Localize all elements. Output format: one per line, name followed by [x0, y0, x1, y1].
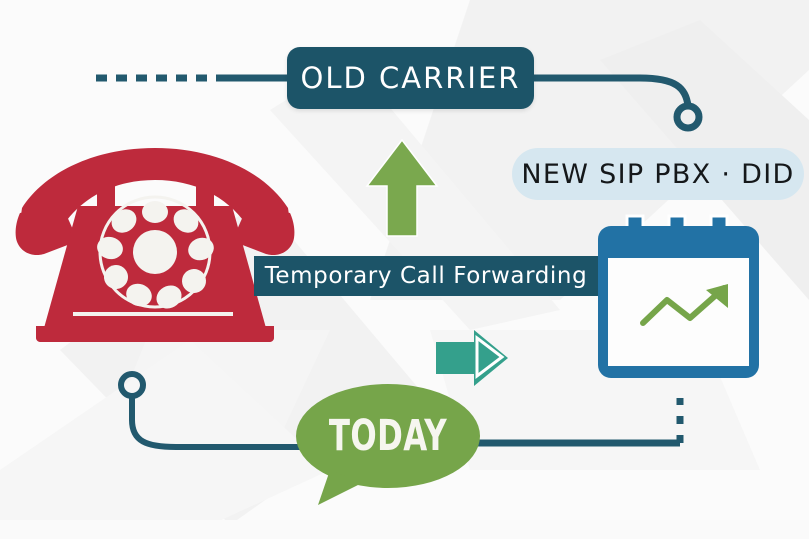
old-carrier-label: OLD CARRIER — [301, 61, 521, 95]
temporary-call-forwarding-bar[interactable]: Temporary Call Forwarding — [254, 256, 598, 296]
new-sip-pbx-badge[interactable]: NEW SIP PBX · DID — [512, 148, 804, 200]
today-label: TODAY — [314, 386, 461, 486]
old-carrier-badge[interactable]: OLD CARRIER — [287, 47, 534, 109]
today-bubble[interactable]: TODAY — [296, 386, 480, 494]
temporary-call-forwarding-label: Temporary Call Forwarding — [265, 263, 588, 289]
new-sip-pbx-label: NEW SIP PBX · DID — [521, 159, 794, 190]
infographic-canvas: OLD CARRIER NEW SIP PBX · DID Temporary … — [0, 0, 809, 539]
